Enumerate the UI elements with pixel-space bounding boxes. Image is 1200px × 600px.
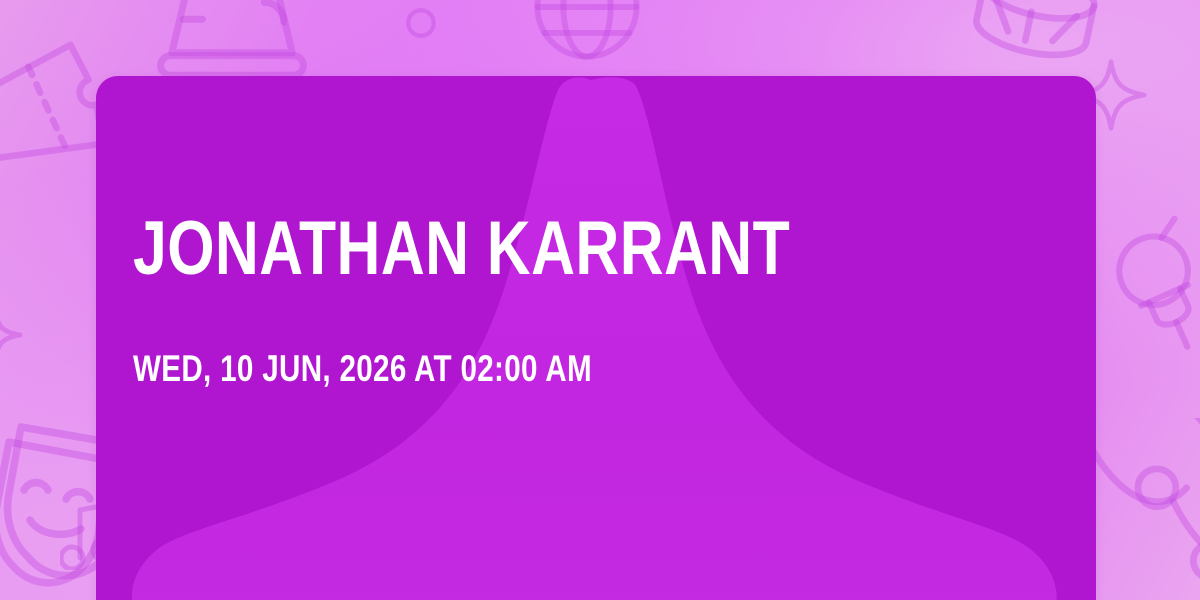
event-card[interactable]: JONATHAN KARRANT WED, 10 JUN, 2026 AT 02… xyxy=(96,76,1096,600)
event-banner: JONATHAN KARRANT WED, 10 JUN, 2026 AT 02… xyxy=(0,0,1200,600)
event-title: JONATHAN KARRANT xyxy=(133,208,790,290)
event-datetime: WED, 10 JUN, 2026 AT 02:00 AM xyxy=(133,348,592,390)
card-content: JONATHAN KARRANT WED, 10 JUN, 2026 AT 02… xyxy=(133,76,1063,600)
